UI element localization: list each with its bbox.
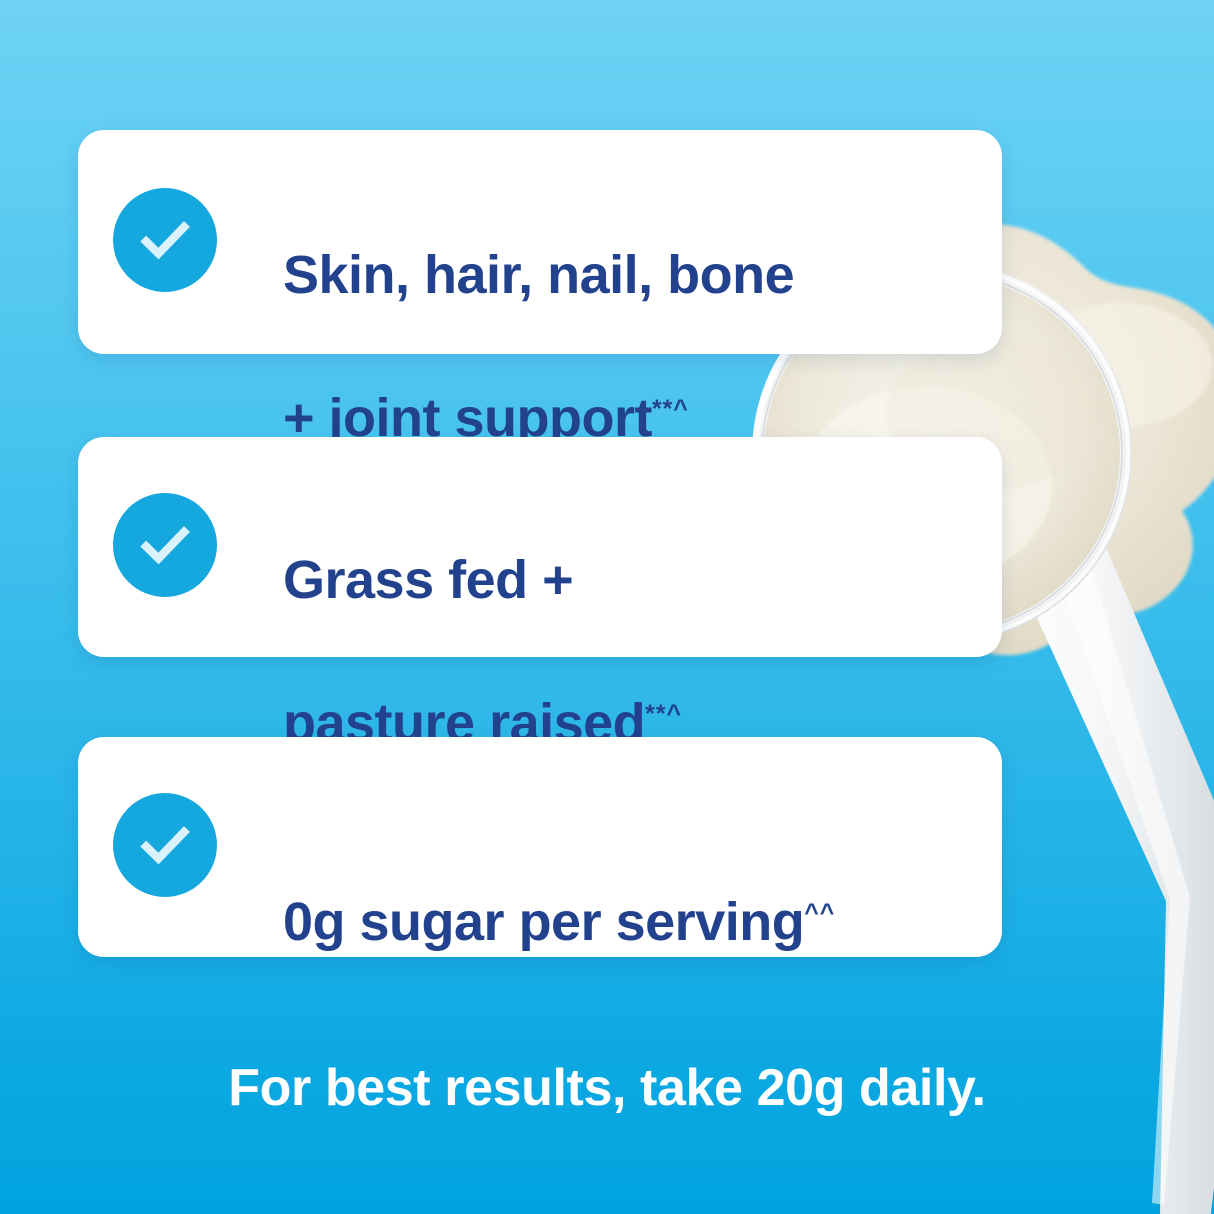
benefit-card-3: 0g sugar per serving^^ — [78, 737, 1002, 957]
benefit-footnote-2: **^ — [645, 701, 682, 728]
footer-instruction: For best results, take 20g daily. — [0, 1058, 1214, 1118]
benefit-line-2a: Grass fed + — [283, 550, 573, 610]
benefit-text-2: Grass fed + pasture raised**^ — [283, 473, 972, 760]
benefit-text-3: 0g sugar per serving^^ — [283, 815, 972, 959]
benefit-footnote-1: **^ — [652, 396, 689, 423]
benefit-footnote-3: ^^ — [804, 900, 835, 927]
check-circle-icon — [113, 493, 217, 597]
benefit-line-3a: 0g sugar per serving — [283, 892, 804, 952]
check-circle-icon — [113, 188, 217, 292]
check-circle-icon — [113, 793, 217, 897]
benefit-text-1: Skin, hair, nail, bone + joint support**… — [283, 168, 972, 455]
product-benefits-graphic: Skin, hair, nail, bone + joint support**… — [0, 0, 1214, 1214]
benefit-line-1a: Skin, hair, nail, bone — [283, 245, 794, 305]
benefit-card-1: Skin, hair, nail, bone + joint support**… — [78, 130, 1002, 354]
benefit-card-2: Grass fed + pasture raised**^ — [78, 437, 1002, 657]
